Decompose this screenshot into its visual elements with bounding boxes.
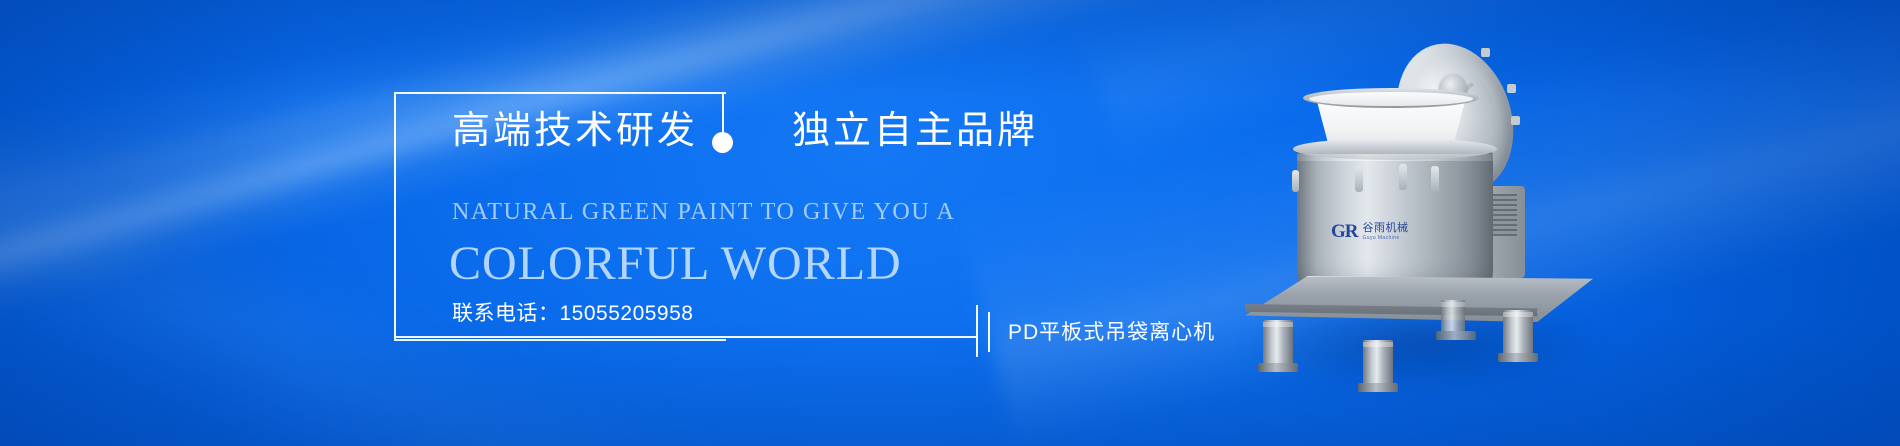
brand-name-english: Guyu Machine	[1363, 236, 1409, 241]
caption-tick-short	[988, 312, 990, 352]
brand-name-chinese: 谷雨机械	[1363, 223, 1409, 234]
machine-bag-rim-inner	[1309, 92, 1473, 106]
brand-monogram-icon: GR	[1331, 222, 1358, 241]
brand-name-block: 谷雨机械 Guyu Machine	[1363, 223, 1409, 241]
headline-right-text: 独立自主品牌	[792, 112, 1038, 150]
machine-lid-lug	[1507, 84, 1516, 93]
machine-clamp	[1399, 164, 1407, 190]
promotional-banner: 高端技术研发 独立自主品牌 NATURAL GREEN PAINT TO GIV…	[0, 0, 1900, 446]
contact-phone: 联系电话：15055205958	[452, 303, 693, 324]
machine-clamp	[1431, 166, 1439, 192]
headline: 高端技术研发 独立自主品牌	[452, 112, 1038, 150]
caption-tick-long	[976, 305, 978, 357]
machine-leg	[1263, 320, 1293, 366]
machine-clamp	[1355, 166, 1363, 192]
machine-base-plate	[1245, 276, 1593, 322]
product-photo-centrifuge: GR 谷雨机械 Guyu Machine	[1235, 8, 1615, 408]
machine-drum-highlight-band	[1297, 154, 1493, 161]
product-caption: PD平板式吊袋离心机	[1008, 322, 1215, 343]
machine-leg	[1441, 300, 1465, 334]
frame-baseline-rule	[394, 336, 978, 338]
caption-tick-marks	[976, 312, 990, 357]
machine-leg	[1363, 340, 1393, 386]
machine-lid-lug	[1481, 48, 1490, 57]
subtitle-english: NATURAL GREEN PAINT TO GIVE YOU A	[452, 200, 955, 224]
machine-clamp	[1292, 170, 1299, 192]
machine-lid-lug	[1511, 116, 1520, 125]
machine-brand-logo: GR 谷雨机械 Guyu Machine	[1331, 222, 1409, 241]
machine-leg	[1503, 310, 1533, 356]
headline-left-text: 高端技术研发	[452, 112, 698, 150]
title-english: COLORFUL WORLD	[449, 240, 902, 288]
